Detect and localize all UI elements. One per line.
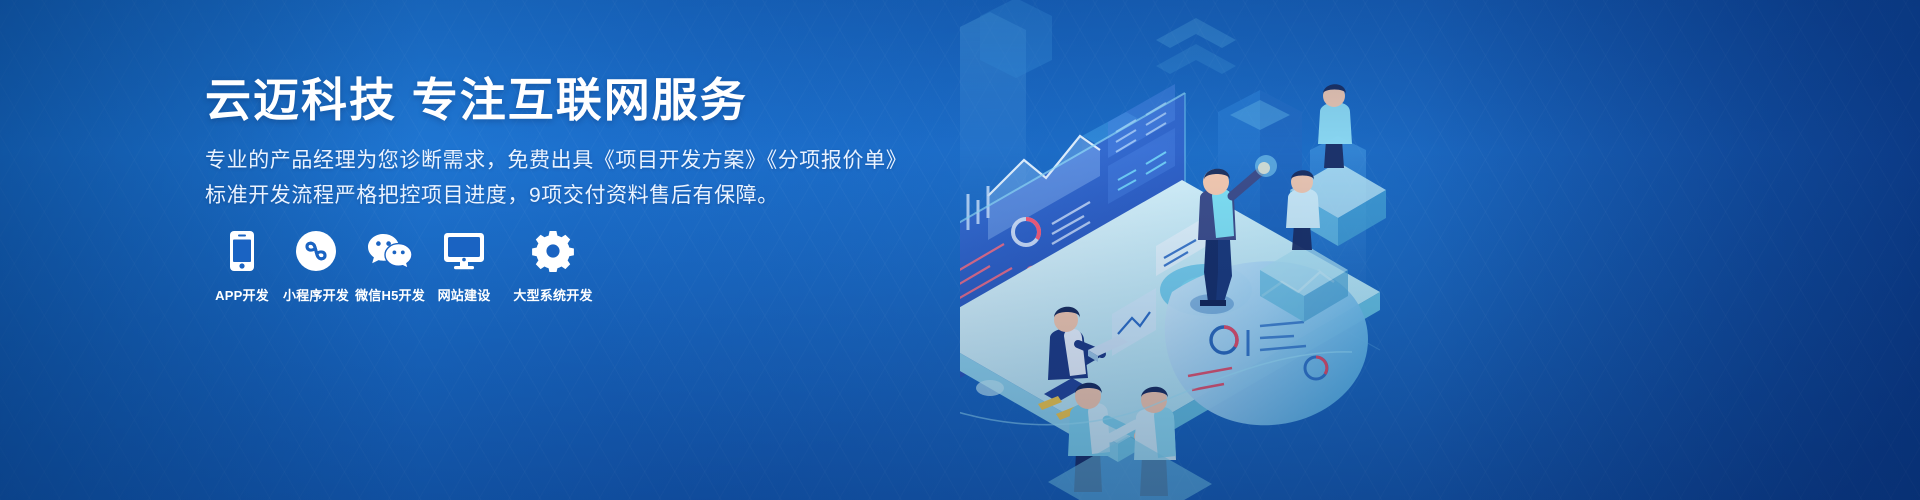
- mobile-phone-icon: [229, 228, 255, 274]
- curved-data-sheet: [1112, 214, 1368, 425]
- isometric-illustration: [960, 0, 1920, 500]
- wechat-icon: [367, 228, 413, 274]
- person-on-pedestal-lower: [1286, 170, 1320, 250]
- person-bottom-right: [1110, 387, 1176, 496]
- service-item-app[interactable]: APP开发: [205, 228, 279, 304]
- service-item-website[interactable]: 网站建设: [427, 228, 501, 304]
- service-item-wechat-h5[interactable]: 微信H5开发: [353, 228, 427, 304]
- subtitle-line-2: 标准开发流程严格把控项目进度，9项交付资料售后有保障。: [205, 180, 779, 212]
- service-list: APP开发 小程序开发: [205, 228, 605, 304]
- service-label: 小程序开发: [283, 285, 349, 304]
- server-stack: [1082, 112, 1170, 230]
- small-platform: [1048, 436, 1212, 500]
- service-label: 微信H5开发: [355, 285, 425, 304]
- service-label: 大型系统开发: [513, 285, 592, 304]
- hero-banner: 云迈科技 专注互联网服务 专业的产品经理为您诊断需求，免费出具《项目开发方案》《…: [0, 0, 1920, 500]
- person-bottom-left: [1068, 383, 1146, 492]
- service-label: 网站建设: [438, 285, 491, 304]
- tablet-platform: [960, 180, 1380, 462]
- gear-icon: [532, 228, 574, 274]
- side-pedestals: [1260, 84, 1386, 322]
- mini-program-icon: [295, 228, 337, 274]
- service-item-mini-program[interactable]: 小程序开发: [279, 228, 353, 304]
- person-seated-with-laptop: [1038, 307, 1128, 420]
- service-item-large-system[interactable]: 大型系统开发: [501, 228, 605, 304]
- background-city-blocks: [960, 0, 1380, 410]
- person-on-pedestal-upper: [1318, 84, 1352, 168]
- dashboard-screen: [960, 12, 1296, 388]
- subtitle-line-1: 专业的产品经理为您诊断需求，免费出具《项目开发方案》《分项报价单》: [205, 145, 907, 177]
- page-title: 云迈科技 专注互联网服务: [205, 72, 748, 130]
- service-label: APP开发: [215, 285, 269, 304]
- person-standing: [1190, 155, 1277, 314]
- hero-content: 云迈科技 专注互联网服务 专业的产品经理为您诊断需求，免费出具《项目开发方案》《…: [205, 0, 965, 500]
- monitor-icon: [443, 228, 485, 274]
